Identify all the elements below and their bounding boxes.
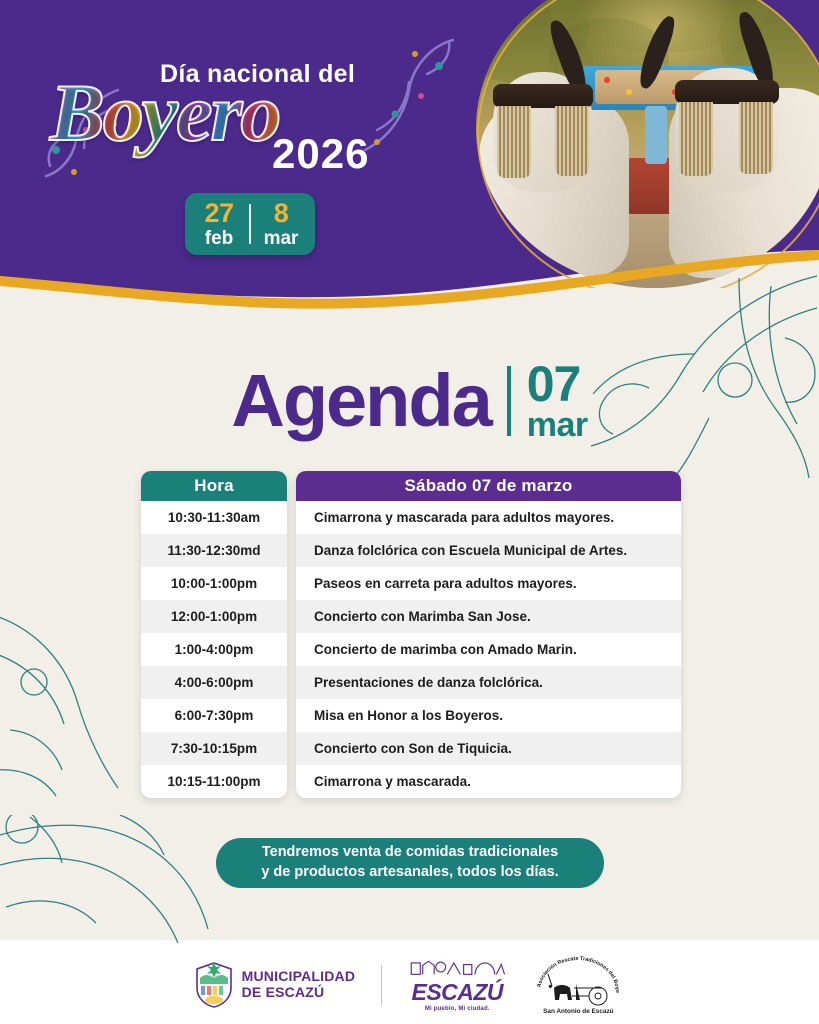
poster-root: Día nacional del Boyero 2026 27 feb 8 ma…: [0, 0, 819, 1024]
banner-line-2: y de productos artesanales, todos los dí…: [261, 863, 558, 883]
table-row: 10:00-1:00pm: [141, 567, 287, 600]
table-row: 12:00-1:00pm: [141, 600, 287, 633]
agenda-day-block: 07 mar: [527, 360, 588, 442]
table-row: Cimarrona y mascarada.: [296, 765, 681, 798]
agenda-program-column: Sábado 07 de marzo Cimarrona y mascarada…: [296, 471, 681, 798]
escazu-brand-logo: ESCAZÚ Mi pueblo, Mi ciudad.: [408, 958, 506, 1012]
logo-divider: [381, 965, 382, 1005]
municipalidad-line-1: MUNICIPALIDAD: [242, 969, 356, 985]
escazu-wordmark: ESCAZÚ: [408, 981, 506, 1004]
table-row: Concierto de marimba con Amado Marin.: [296, 633, 681, 666]
agenda-table: Hora 10:30-11:30am 11:30-12:30md 10:00-1…: [141, 471, 681, 798]
agenda-day-number: 07: [527, 360, 588, 409]
footer-logos: MUNICIPALIDAD DE ESCAZÚ ESCAZÚ Mi pueblo…: [0, 946, 819, 1024]
table-row: 6:00-7:30pm: [141, 699, 287, 732]
asociacion-oxcart-icon: Asociación Rescate Tradiciones del Boyer…: [532, 954, 624, 1016]
table-row: 10:15-11:00pm: [141, 765, 287, 798]
agenda-day-month: mar: [527, 409, 588, 442]
agenda-title-rule: [507, 366, 511, 436]
date-end-day: 8: [251, 200, 311, 227]
food-vendors-banner: Tendremos venta de comidas tradicionales…: [216, 838, 604, 888]
agenda-time-column: Hora 10:30-11:30am 11:30-12:30md 10:00-1…: [141, 471, 287, 798]
table-row: 1:00-4:00pm: [141, 633, 287, 666]
table-row: Paseos en carreta para adultos mayores.: [296, 567, 681, 600]
municipalidad-logo: MUNICIPALIDAD DE ESCAZÚ: [195, 962, 356, 1008]
asociacion-logo: Asociación Rescate Tradiciones del Boyer…: [532, 954, 624, 1016]
table-row: Danza folclórica con Escuela Municipal d…: [296, 534, 681, 567]
table-row: Cimarrona y mascarada para adultos mayor…: [296, 501, 681, 534]
table-row: 11:30-12:30md: [141, 534, 287, 567]
table-row: Presentaciones de danza folclórica.: [296, 666, 681, 699]
escazu-skyline-icon: [408, 958, 506, 976]
table-row: 7:30-10:15pm: [141, 732, 287, 765]
gold-wave-divider: [0, 230, 819, 320]
column-header-program: Sábado 07 de marzo: [296, 471, 681, 501]
boyero-wordmark-text: Boyero: [50, 67, 279, 158]
table-row: 4:00-6:00pm: [141, 666, 287, 699]
municipalidad-text: MUNICIPALIDAD DE ESCAZÚ: [242, 969, 356, 1000]
header-year: 2026: [272, 130, 369, 178]
table-row: Concierto con Son de Tiquicia.: [296, 732, 681, 765]
date-start-day: 27: [189, 200, 249, 227]
asociacion-subtitle: San Antonio de Escazú: [532, 1008, 624, 1015]
municipal-shield-icon: [195, 962, 233, 1008]
table-row: Misa en Honor a los Boyeros.: [296, 699, 681, 732]
table-row: 10:30-11:30am: [141, 501, 287, 534]
banner-line-1: Tendremos venta de comidas tradicionales: [262, 843, 558, 863]
column-header-time: Hora: [141, 471, 287, 501]
agenda-title-row: Agenda 07 mar: [0, 355, 819, 447]
municipalidad-line-2: DE ESCAZÚ: [242, 985, 356, 1001]
agenda-title: Agenda: [231, 364, 490, 438]
escazu-tagline: Mi pueblo, Mi ciudad.: [408, 1006, 506, 1012]
table-row: Concierto con Marimba San Jose.: [296, 600, 681, 633]
